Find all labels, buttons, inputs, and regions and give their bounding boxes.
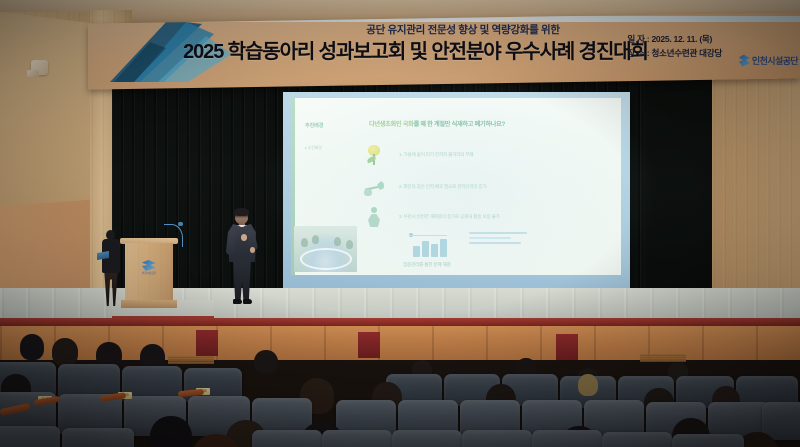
org-logo-mark-icon <box>739 55 750 67</box>
slide-legend <box>469 232 531 247</box>
slide-nav-title: 추진배경 <box>305 122 323 129</box>
presenter-hand-with-mic <box>241 234 247 241</box>
slide-nav-item: ▸ 추진배경 <box>305 145 322 151</box>
banner-place: 장 소 : 청소년수련관 대강당 <box>627 46 722 60</box>
person-icon <box>363 206 385 230</box>
presenter-hair <box>234 208 249 216</box>
slide-heading-highlight: 다년생초화인 국화 <box>369 121 414 128</box>
wall-light-arm <box>27 70 39 77</box>
seat <box>602 432 672 447</box>
presenter <box>225 209 259 306</box>
audience-head <box>150 416 192 447</box>
seat <box>672 434 744 447</box>
seat <box>462 430 532 447</box>
banner-meta: 일 자 : 2025. 12. 11. (목) 장 소 : 청소년수련관 대강당 <box>627 32 722 60</box>
seat <box>62 428 134 447</box>
event-banner: 공단 유지관리 전문성 향상 및 역량강화를 위한 2025 학습동아리 성과보… <box>88 12 800 89</box>
banner-title: 2025 학습동아리 성과보고회 및 안전분야 우수사례 경진대회 <box>143 35 688 64</box>
flower-icon <box>363 144 385 168</box>
lectern-logo-text: 인천시설공단 <box>139 271 159 275</box>
seat <box>392 430 462 447</box>
organization-logo: 인천시설공단 <box>739 54 798 67</box>
seat <box>252 430 322 447</box>
slide-caption: 집중관리를 통한 문제 해결 <box>403 262 451 268</box>
lectern: 인천시설공단 <box>122 238 176 310</box>
slide-bullet-1-text: 1. 가을에 꽃이 피기 전까지 볼거리의 부재 <box>399 152 473 158</box>
slide-bullet-3-text: 3. 우천시 빈번한 개화중의 증가로 공원내 활동 보장 불가 <box>399 214 500 220</box>
audience-head <box>254 350 278 374</box>
auditorium-presentation-photo: 공단 유지관리 전문성 향상 및 역량강화를 위한 2025 학습동아리 성과보… <box>0 0 800 447</box>
seat <box>322 430 392 447</box>
projection-screen: 추진배경 ▸ 추진배경 다년생초화인 국화를 왜 한 계절만 식재하고 폐기하나… <box>283 92 630 288</box>
banner-date: 일 자 : 2025. 12. 11. (목) <box>627 32 722 46</box>
slide-diagram-icon <box>409 231 449 257</box>
microphone-icon <box>178 222 183 226</box>
slide-bullet-1: 1. 가을에 꽃이 피기 전까지 볼거리의 부재 <box>363 144 613 174</box>
tool-icon <box>363 176 385 200</box>
staff-at-laptop <box>100 230 122 310</box>
slide-park-photo <box>294 226 357 272</box>
org-logo-text: 인천시설공단 <box>752 54 798 67</box>
audience-head <box>578 374 598 396</box>
audience-head <box>20 334 44 360</box>
seat <box>0 426 60 447</box>
lectern-logo: 인천시설공단 <box>139 260 159 276</box>
seat <box>532 430 602 447</box>
slide-bullet-2: 2. 화단의 잦은 인력 배초 필요로 관리인력의 증가 <box>363 176 613 206</box>
presentation-slide: 추진배경 ▸ 추진배경 다년생초화인 국화를 왜 한 계절만 식재하고 폐기하나… <box>291 98 621 275</box>
presenter-right-shoe <box>243 299 252 304</box>
presenter-other-hand <box>250 247 255 253</box>
lectern-logo-mark-icon <box>142 260 156 271</box>
audience-seating: 사-21 사-23 사-25 사-27 <box>0 330 800 447</box>
presenter-left-shoe <box>233 299 242 304</box>
stage-curtain-right <box>646 80 712 293</box>
slide-bullet-2-text: 2. 화단의 잦은 인력 배초 필요로 관리인력의 증가 <box>399 184 486 190</box>
presenter-legs <box>233 259 251 301</box>
audience-head <box>52 338 78 366</box>
slide-heading-rest: 를 왜 한 계절만 식재하고 폐기하나요? <box>414 121 505 128</box>
lectern-base <box>121 300 177 308</box>
wall-light-icon <box>27 58 51 80</box>
slide-heading: 다년생초화인 국화를 왜 한 계절만 식재하고 폐기하나요? <box>369 119 609 128</box>
